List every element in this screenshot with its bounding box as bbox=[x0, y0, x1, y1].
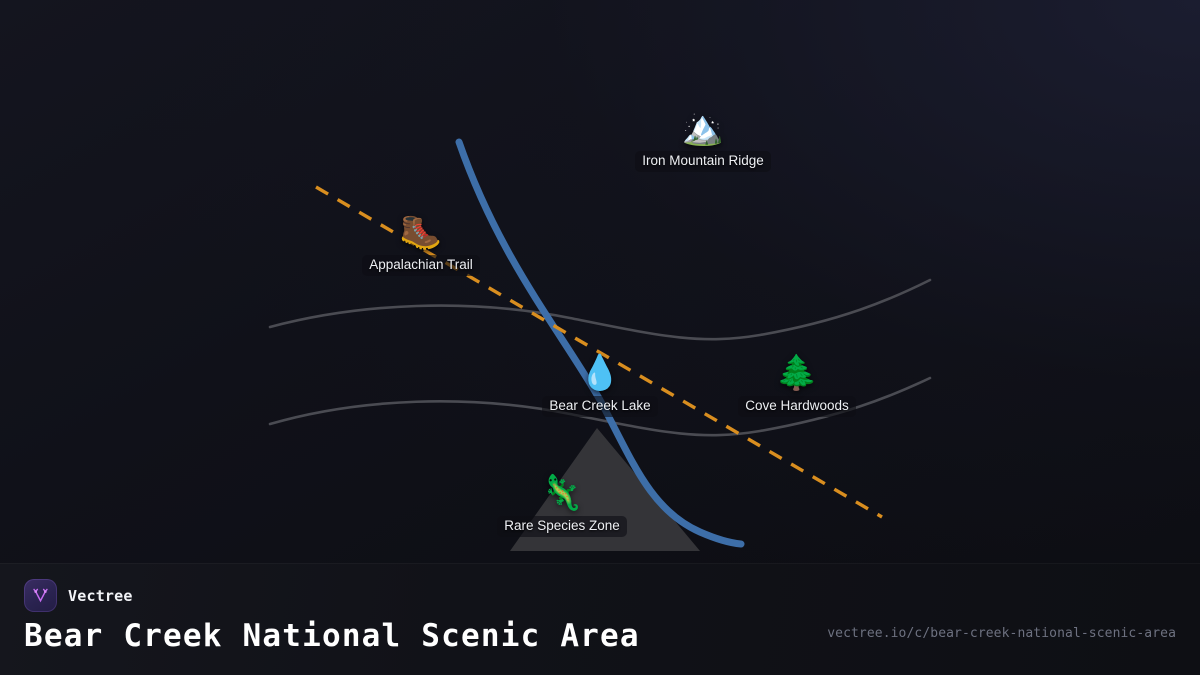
hiking-boot-icon: 🥾 bbox=[400, 212, 442, 254]
footer-bar: Vectree Bear Creek National Scenic Area … bbox=[0, 563, 1200, 675]
map-canvas[interactable]: 🏔️ Iron Mountain Ridge 🥾 Appalachian Tra… bbox=[0, 0, 1200, 563]
brand-name: Vectree bbox=[68, 587, 133, 605]
map-marker-label: Cove Hardwoods bbox=[738, 396, 856, 417]
map-marker-label: Rare Species Zone bbox=[497, 516, 627, 537]
contour-line-upper bbox=[270, 280, 930, 339]
vectree-glyph-icon bbox=[30, 585, 51, 606]
page-title: Bear Creek National Scenic Area bbox=[24, 618, 640, 654]
page-url: vectree.io/c/bear-creek-national-scenic-… bbox=[827, 626, 1176, 641]
water-droplet-icon: 💧 bbox=[579, 353, 621, 395]
map-marker-appalachian-trail[interactable]: 🥾 Appalachian Trail bbox=[321, 212, 521, 276]
map-marker-cove-hardwoods[interactable]: 🌲 Cove Hardwoods bbox=[697, 353, 897, 417]
map-marker-label: Iron Mountain Ridge bbox=[635, 151, 771, 172]
lizard-icon: 🦎 bbox=[541, 473, 583, 515]
map-marker-iron-mountain-ridge[interactable]: 🏔️ Iron Mountain Ridge bbox=[603, 108, 803, 172]
vectree-logo bbox=[24, 579, 57, 612]
map-marker-bear-creek-lake[interactable]: 💧 Bear Creek Lake bbox=[500, 353, 700, 417]
evergreen-tree-icon: 🌲 bbox=[776, 353, 818, 395]
page-root: 🏔️ Iron Mountain Ridge 🥾 Appalachian Tra… bbox=[0, 0, 1200, 675]
map-marker-label: Bear Creek Lake bbox=[542, 396, 657, 417]
snow-capped-mountain-icon: 🏔️ bbox=[682, 108, 724, 150]
map-marker-rare-species-zone[interactable]: 🦎 Rare Species Zone bbox=[462, 473, 662, 537]
brand-row[interactable]: Vectree bbox=[24, 579, 133, 612]
map-marker-label: Appalachian Trail bbox=[362, 255, 480, 276]
